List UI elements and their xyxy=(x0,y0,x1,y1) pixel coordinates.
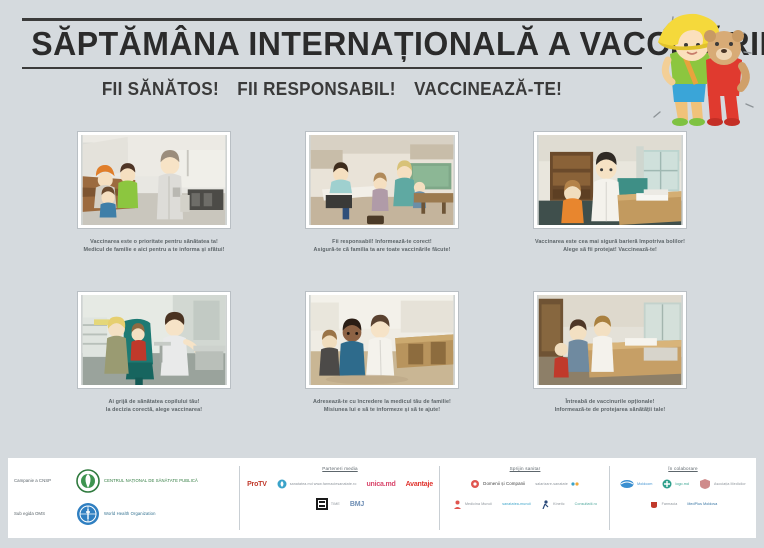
support-logo-5: Kinetic xyxy=(553,501,565,507)
cnsp-logo-name: CENTRUL NAȚIONAL DE SĂNĂTATE PUBLICĂ xyxy=(104,478,198,484)
panel-photo xyxy=(78,292,230,388)
panel-caption: Ai grijă de sănătatea copilului tău! Ia … xyxy=(65,398,243,414)
logo-item: unica.md xyxy=(366,477,395,491)
panel-caption: Vaccinarea este o prioritate pentru sănă… xyxy=(65,238,243,254)
cross-icon xyxy=(662,479,672,489)
logo-item: MedPlus Moldova xyxy=(687,497,717,511)
logo-item: sanatatea.md www.farmaciesanatate.ro xyxy=(277,477,357,491)
caption-line-1: Vaccinarea este o prioritate pentru sănă… xyxy=(65,238,243,246)
caption-line-1: Ai grijă de sănătatea copilului tău! xyxy=(65,398,243,406)
partners-logo-grid: Moldcom logo.md Asociația Medicilor Farm… xyxy=(616,477,750,511)
swoosh-icon xyxy=(620,479,634,489)
partner-logo-1: Moldcom xyxy=(637,481,652,487)
logo-item: sanatatea-muncii xyxy=(502,497,531,511)
panel-photo xyxy=(534,132,686,228)
panel-photo xyxy=(534,292,686,388)
support-logo-grid: Domenii și Companii salarizare-sanatate … xyxy=(446,477,604,511)
subtitle-part-2: FII RESPONSABIL! xyxy=(237,79,395,99)
caption-line-2: Informează-te de protejarea sănătății ta… xyxy=(521,406,699,414)
media-logo-grid: ProTV sanatatea.md www.farmaciesanatate.… xyxy=(246,477,434,511)
poster-subtitle: FII SĂNĂTOS! FII RESPONSABIL! VACCINEAZĂ… xyxy=(38,75,627,103)
media-logo-5: TIME xyxy=(331,501,340,507)
support-logo-6: Consultatii.ro xyxy=(575,501,597,507)
title-rule-bottom xyxy=(22,67,642,69)
subtitle-part-3: VACCINEAZĂ-TE! xyxy=(414,79,562,99)
poster-header: SĂPTĂMÂNA INTERNAȚIONALĂ A VACCINĂRII FI… xyxy=(0,0,764,132)
panel-caption: Vaccinarea este cea mai sigură barieră î… xyxy=(521,238,699,254)
partner-logo-2: logo.md xyxy=(675,481,689,487)
footer-logo-bar: Campanie a CNSP CENTRUL NAȚIONAL DE SĂNĂ… xyxy=(0,452,764,548)
logo-item: Kinetic xyxy=(541,497,565,511)
logo-item: Consultatii.ro xyxy=(575,497,597,511)
runner-icon xyxy=(541,500,550,509)
who-logo-name: World Health Organization xyxy=(104,511,156,517)
logo-item: ProTV xyxy=(247,477,267,491)
footer-collaboration-partners: În colaborare Moldcom logo.md Asociația … xyxy=(610,458,756,538)
partner-logo-5: MedPlus Moldova xyxy=(687,501,717,507)
media-logo-6: BMJ xyxy=(350,501,364,508)
dots-icon xyxy=(571,480,580,489)
bloom-icon xyxy=(470,479,480,489)
logo-item: Asociația Medicilor xyxy=(699,477,746,491)
logo-item: Farmacia xyxy=(649,497,678,511)
caption-line-1: Vaccinarea este cea mai sigură barieră î… xyxy=(521,238,699,246)
square-mark-icon xyxy=(316,498,328,510)
panel-treatment-chair: Ai grijă de sănătatea copilului tău! Ia … xyxy=(68,292,240,452)
organizer-support-label: Sub egida OMS xyxy=(14,511,70,516)
caption-line-1: Întreabă de vaccinurile opționale! xyxy=(521,398,699,406)
title-rule-top xyxy=(22,18,642,21)
panel-office-desk: Vaccinarea este cea mai sigură barieră î… xyxy=(524,132,696,292)
mortar-icon xyxy=(649,499,659,509)
panel-caption: Fii responsabil! Informează-te corect! A… xyxy=(293,238,471,254)
page-title: SĂPTĂMÂNA INTERNAȚIONALĂ A VACCINĂRII xyxy=(31,23,632,65)
panel-photo xyxy=(306,132,458,228)
vaccination-week-poster: SĂPTĂMÂNA INTERNAȚIONALĂ A VACCINĂRII FI… xyxy=(0,0,764,548)
panel-reception: Întreabă de vaccinurile opționale! Infor… xyxy=(524,292,696,452)
person-icon xyxy=(453,500,462,509)
logo-item: logo.md xyxy=(662,477,689,491)
subtitle-part-1: FII SĂNĂTOS! xyxy=(102,79,219,99)
panel-waiting-room: Vaccinarea este o prioritate pentru sănă… xyxy=(68,132,240,292)
media-heading: Parteneri media xyxy=(246,466,434,471)
footer-panel: Campanie a CNSP CENTRUL NAȚIONAL DE SĂNĂ… xyxy=(8,458,756,538)
support-logo-4: sanatatea-muncii xyxy=(502,501,531,507)
organizer-row-campaign: Campanie a CNSP CENTRUL NAȚIONAL DE SĂNĂ… xyxy=(14,464,234,497)
support-logo-2: salarizare-sanatate xyxy=(535,481,567,487)
logo-item: Medicina Muncii xyxy=(453,497,492,511)
logo-item: TIME xyxy=(316,497,340,511)
support-logo-1: Domenii și Companii xyxy=(483,481,525,487)
caption-line-2: Alege să fii protejat! Vaccinează-te! xyxy=(521,246,699,254)
caption-line-1: Fii responsabil! Informează-te corect! xyxy=(293,238,471,246)
support-logo-3: Medicina Muncii xyxy=(465,501,492,507)
who-logo: World Health Organization xyxy=(76,502,156,526)
partner-logo-3: Asociația Medicilor xyxy=(714,481,746,487)
media-logo-2: sanatatea.md www.farmaciesanatate.ro xyxy=(290,481,357,487)
logo-item: Avantaje xyxy=(406,477,433,491)
shield-icon xyxy=(699,479,711,489)
logo-item: Domenii și Companii xyxy=(470,477,525,491)
caption-line-2: Medicul de familie e aici pentru a te in… xyxy=(65,246,243,254)
organizer-row-support: Sub egida OMS World Health Organization xyxy=(14,497,234,530)
who-emblem-icon xyxy=(76,502,100,526)
media-logo-3: unica.md xyxy=(366,481,395,488)
panel-photo xyxy=(306,292,458,388)
panel-row-top: Vaccinarea este o prioritate pentru sănă… xyxy=(0,132,764,292)
leaf-icon xyxy=(277,479,287,489)
footer-media-partners: Parteneri media ProTV sanatatea.md www.f… xyxy=(240,458,440,538)
panel-row-bottom: Ai grijă de sănătatea copilului tău! Ia … xyxy=(0,292,764,452)
logo-item: BMJ xyxy=(350,497,364,511)
panel-caption: Întreabă de vaccinurile opționale! Infor… xyxy=(521,398,699,414)
media-logo-4: Avantaje xyxy=(406,481,433,488)
mascot-illustration-icon xyxy=(646,8,760,132)
caption-line-2: Asigură-te că familia ta are toate vacci… xyxy=(293,246,471,254)
panel-photo xyxy=(78,132,230,228)
caption-line-1: Adresează-te cu încredere la medicul tău… xyxy=(293,398,471,406)
logo-item: salarizare-sanatate xyxy=(535,477,579,491)
cnsp-logo: CENTRUL NAȚIONAL DE SĂNĂTATE PUBLICĂ xyxy=(76,469,198,493)
panel-classroom: Fii responsabil! Informează-te corect! A… xyxy=(296,132,468,292)
panel-caption: Adresează-te cu încredere la medicul tău… xyxy=(293,398,471,414)
support-heading: Sprijin sanitar xyxy=(446,466,604,471)
panel-grid: Vaccinarea este o prioritate pentru sănă… xyxy=(0,132,764,452)
caption-line-2: Ia decizia corectă, alege vaccinarea! xyxy=(65,406,243,414)
footer-organizers: Campanie a CNSP CENTRUL NAȚIONAL DE SĂNĂ… xyxy=(8,458,240,538)
logo-item: Moldcom xyxy=(620,477,652,491)
cnsp-emblem-icon xyxy=(76,469,100,493)
title-block: SĂPTĂMÂNA INTERNAȚIONALĂ A VACCINĂRII FI… xyxy=(22,18,642,103)
media-logo-1: ProTV xyxy=(247,481,267,488)
panel-consultation: Adresează-te cu încredere la medicul tău… xyxy=(296,292,468,452)
partners-heading: În colaborare xyxy=(616,466,750,471)
organizer-campaign-label: Campanie a CNSP xyxy=(14,478,70,483)
partner-logo-4: Farmacia xyxy=(662,501,678,507)
footer-support-partners: Sprijin sanitar Domenii și Companii sala… xyxy=(440,458,610,538)
caption-line-2: Misiunea lui e să te informeze și să te … xyxy=(293,406,471,414)
